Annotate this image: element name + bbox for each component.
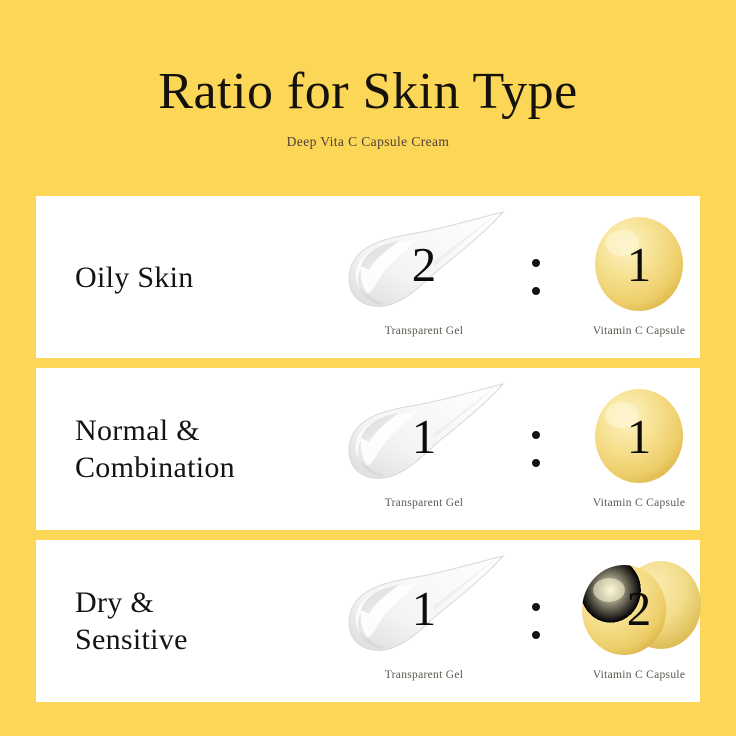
- colon-dot-bottom: [532, 459, 540, 467]
- gel-caption: Transparent Gel: [385, 668, 464, 682]
- gel-ingredient: 1 Transparent Gel: [324, 540, 524, 702]
- skin-type-line-1: Normal &: [75, 412, 325, 449]
- colon-dot-top: [532, 259, 540, 267]
- skin-type-label: Dry & Sensitive: [75, 540, 325, 702]
- capsule-visual: 1: [569, 216, 709, 312]
- skin-type-line-1: Dry &: [75, 584, 325, 621]
- capsule-ingredient: 1 Vitamin C Capsule: [544, 368, 734, 530]
- skin-type-line-2: Combination: [75, 449, 325, 486]
- gel-visual: 1: [337, 560, 512, 656]
- gel-amount: 1: [412, 584, 437, 633]
- colon-dot-top: [532, 431, 540, 439]
- gel-ingredient: 1 Transparent Gel: [324, 368, 524, 530]
- header: Ratio for Skin Type Deep Vita C Capsule …: [0, 62, 736, 151]
- colon-dot-bottom: [532, 287, 540, 295]
- ratio-card: Normal & Combination: [36, 368, 700, 530]
- skin-type-label: Oily Skin: [75, 196, 325, 358]
- gel-amount: 1: [412, 412, 437, 461]
- capsule-visual: 1: [569, 388, 709, 484]
- gel-caption: Transparent Gel: [385, 324, 464, 338]
- capsule-amount: 1: [627, 412, 652, 461]
- capsule-ingredient: 2 Vitamin C Capsule: [544, 540, 734, 702]
- gel-amount: 2: [412, 240, 437, 289]
- gel-ingredient: 2 Transparent Gel: [324, 196, 524, 358]
- skin-type-label: Normal & Combination: [75, 368, 325, 530]
- page-title: Ratio for Skin Type: [0, 62, 736, 122]
- capsule-amount: 2: [627, 584, 652, 633]
- ratio-card: Oily Skin: [36, 196, 700, 358]
- capsule-caption: Vitamin C Capsule: [593, 668, 686, 682]
- infographic-poster: Ratio for Skin Type Deep Vita C Capsule …: [0, 0, 736, 736]
- gel-visual: 2: [337, 216, 512, 312]
- capsule-ingredient: 1 Vitamin C Capsule: [544, 196, 734, 358]
- skin-type-line-2: Sensitive: [75, 621, 325, 658]
- page-subtitle: Deep Vita C Capsule Cream: [0, 133, 736, 151]
- ratio-card: Dry & Sensitive: [36, 540, 700, 702]
- capsule-visual: 2: [569, 560, 709, 656]
- skin-type-line-1: Oily Skin: [75, 259, 325, 296]
- colon-dot-bottom: [532, 631, 540, 639]
- colon-dot-top: [532, 603, 540, 611]
- gel-visual: 1: [337, 388, 512, 484]
- gel-caption: Transparent Gel: [385, 496, 464, 510]
- capsule-amount: 1: [627, 240, 652, 289]
- capsule-caption: Vitamin C Capsule: [593, 496, 686, 510]
- ratio-card-list: Oily Skin: [36, 196, 700, 702]
- capsule-caption: Vitamin C Capsule: [593, 324, 686, 338]
